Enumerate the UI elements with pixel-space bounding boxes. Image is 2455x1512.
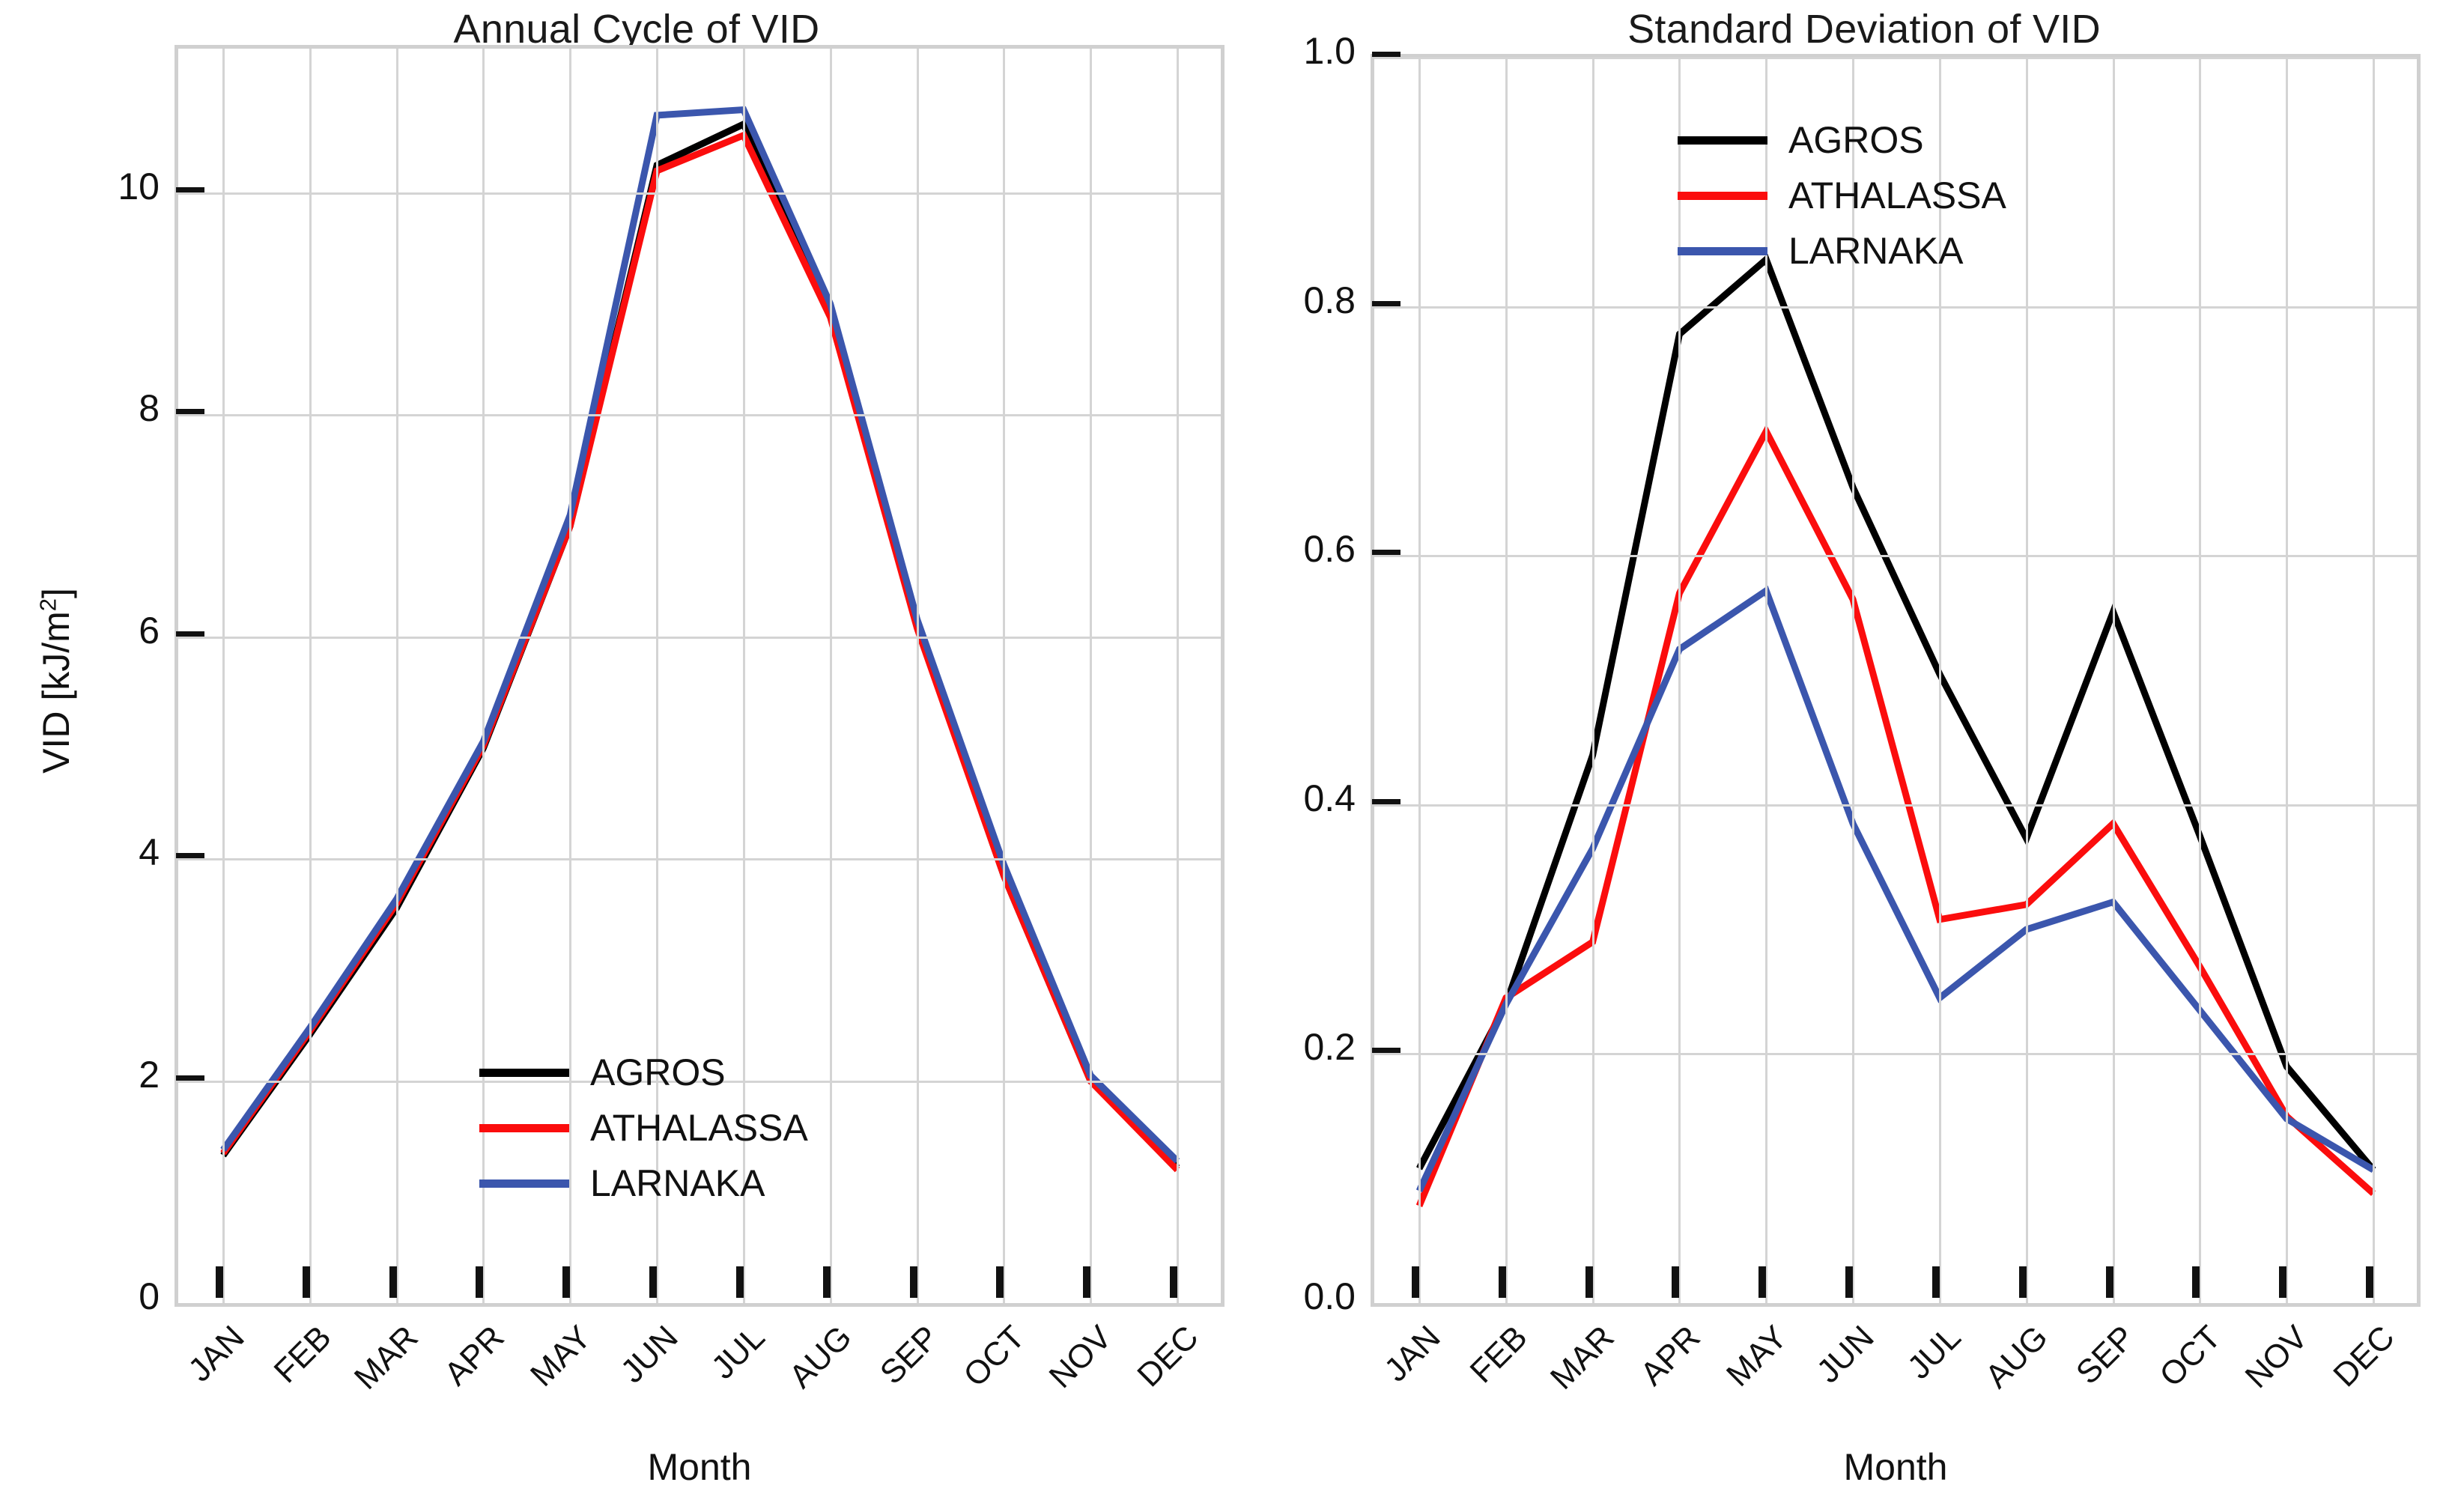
series-line-agros (1419, 259, 2373, 1170)
y-tick-label: 4 (10, 831, 160, 874)
x-tick-mark (1845, 1266, 1853, 1298)
grid-line-horizontal (1374, 57, 2417, 59)
legend-swatch-agros-icon (1678, 136, 1767, 145)
grid-line-vertical (222, 49, 225, 1303)
grid-line-horizontal (1374, 306, 2417, 309)
x-tick-mark (389, 1266, 397, 1298)
panel-title-standard-deviation: Standard Deviation of VID (1273, 6, 2455, 52)
grid-line-horizontal (178, 637, 1221, 639)
x-tick-mark (649, 1266, 657, 1298)
y-tick-label: 0.8 (1206, 279, 1356, 322)
grid-line-vertical (917, 49, 919, 1303)
x-tick-mark (996, 1266, 1004, 1298)
legend-item-larnaka[interactable]: LARNAKA (1678, 223, 2006, 279)
series-line-athalassa (223, 136, 1177, 1171)
grid-line-vertical (1177, 49, 1179, 1303)
legend-item-athalassa[interactable]: ATHALASSA (479, 1100, 808, 1156)
y-tick-mark (1372, 799, 1401, 804)
series-line-larnaka (223, 110, 1177, 1162)
x-tick-mark (1932, 1266, 1940, 1298)
x-tick-mark (823, 1266, 831, 1298)
y-tick-label: 6 (10, 609, 160, 652)
y-tick-mark (176, 1075, 204, 1081)
x-tick-mark (1170, 1266, 1177, 1298)
y-tick-label: 0.0 (1206, 1275, 1356, 1318)
grid-line-vertical (1592, 58, 1594, 1303)
legend-annual-cycle[interactable]: AGROSATHALASSALARNAKA (479, 1045, 808, 1211)
grid-line-vertical (2199, 58, 2201, 1303)
series-line-agros (223, 124, 1177, 1168)
y-tick-label: 10 (10, 165, 160, 208)
y-tick-label: 2 (10, 1053, 160, 1096)
legend-label: LARNAKA (590, 1165, 765, 1202)
panel-standard-deviation: Standard Deviation of VID 0.00.20.40.60.… (1273, 0, 2455, 1512)
y-tick-label: 1.0 (1206, 29, 1356, 73)
x-tick-mark (2106, 1266, 2113, 1298)
y-tick-label: 0.2 (1206, 1025, 1356, 1069)
y-tick-label: 0.4 (1206, 777, 1356, 820)
y-tick-mark (176, 631, 204, 637)
legend-swatch-larnaka-icon (1678, 247, 1767, 255)
legend-label: LARNAKA (1788, 232, 1963, 270)
grid-line-vertical (309, 49, 312, 1303)
x-tick-mark (1412, 1266, 1419, 1298)
grid-line-vertical (2113, 58, 2115, 1303)
x-tick-mark (2279, 1266, 2286, 1298)
x-tick-mark (2366, 1266, 2373, 1298)
legend-label: ATHALASSA (1788, 177, 2006, 214)
legend-item-athalassa[interactable]: ATHALASSA (1678, 168, 2006, 223)
y-tick-mark (176, 853, 204, 858)
grid-line-vertical (1418, 58, 1421, 1303)
figure-root: Annual Cycle of VID 0246810JANFEBMARAPRM… (0, 0, 2455, 1512)
legend-label: AGROS (1788, 121, 1924, 159)
grid-line-vertical (1003, 49, 1005, 1303)
y-tick-mark (1372, 550, 1401, 555)
y-tick-mark (1372, 52, 1401, 57)
y-axis-title-left: VID [kJ/m2] (34, 523, 78, 838)
legend-swatch-athalassa-icon (1678, 192, 1767, 200)
x-tick-mark (1499, 1266, 1506, 1298)
panel-annual-cycle: Annual Cycle of VID 0246810JANFEBMARAPRM… (0, 0, 1273, 1512)
x-tick-mark (562, 1266, 570, 1298)
x-axis-title-left: Month (175, 1445, 1225, 1489)
legend-label: ATHALASSA (590, 1109, 808, 1147)
x-tick-mark (1758, 1266, 1766, 1298)
x-tick-mark (1672, 1266, 1679, 1298)
legend-standard-deviation[interactable]: AGROSATHALASSALARNAKA (1678, 112, 2006, 279)
x-tick-mark (216, 1266, 223, 1298)
grid-line-horizontal (1374, 555, 2417, 557)
x-tick-mark (910, 1266, 917, 1298)
grid-line-vertical (2286, 58, 2288, 1303)
x-tick-mark (303, 1266, 310, 1298)
grid-line-horizontal (178, 858, 1221, 860)
grid-line-vertical (1090, 49, 1092, 1303)
legend-item-larnaka[interactable]: LARNAKA (479, 1156, 808, 1211)
grid-line-horizontal (1374, 804, 2417, 807)
x-tick-mark (1585, 1266, 1593, 1298)
grid-line-horizontal (1374, 1053, 2417, 1055)
grid-line-vertical (2026, 58, 2028, 1303)
legend-swatch-agros-icon (479, 1069, 569, 1077)
y-tick-label: 0.6 (1206, 527, 1356, 571)
x-tick-mark (2019, 1266, 2027, 1298)
y-tick-mark (1372, 301, 1401, 306)
legend-item-agros[interactable]: AGROS (1678, 112, 2006, 168)
grid-line-vertical (396, 49, 398, 1303)
legend-swatch-athalassa-icon (479, 1124, 569, 1132)
legend-swatch-larnaka-icon (479, 1179, 569, 1188)
y-tick-mark (176, 187, 204, 192)
series-line-athalassa (1419, 431, 2373, 1206)
x-tick-mark (476, 1266, 483, 1298)
grid-line-horizontal (178, 414, 1221, 416)
y-tick-mark (1372, 1048, 1401, 1053)
grid-line-vertical (2373, 58, 2375, 1303)
x-tick-mark (2192, 1266, 2200, 1298)
x-axis-title-right: Month (1371, 1445, 2421, 1489)
series-line-larnaka (1419, 591, 2373, 1191)
y-tick-label: 0 (10, 1275, 160, 1318)
grid-line-horizontal (178, 192, 1221, 195)
legend-item-agros[interactable]: AGROS (479, 1045, 808, 1100)
x-tick-mark (1083, 1266, 1090, 1298)
x-tick-mark (736, 1266, 744, 1298)
grid-line-vertical (830, 49, 832, 1303)
grid-line-vertical (1505, 58, 1508, 1303)
y-tick-label: 8 (10, 386, 160, 430)
legend-label: AGROS (590, 1054, 726, 1091)
y-tick-mark (176, 409, 204, 414)
